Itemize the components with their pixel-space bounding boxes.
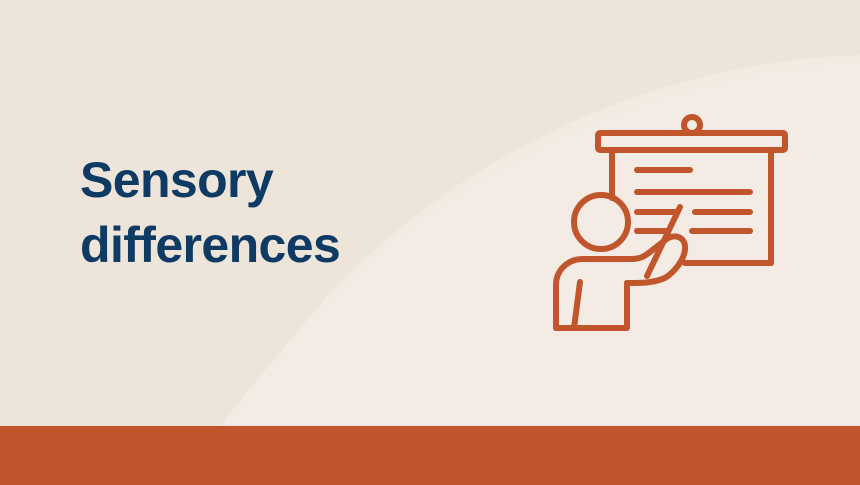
presenter-head <box>574 195 628 249</box>
page-title: Sensory differences <box>80 148 510 278</box>
title-slide: Sensory differences <box>0 0 860 485</box>
title-line-2: differences <box>80 213 510 278</box>
presenter-lower-body <box>556 283 627 328</box>
board-top-rail <box>598 133 785 150</box>
presenter-at-whiteboard-illustration <box>540 100 820 350</box>
title-line-1: Sensory <box>80 148 510 213</box>
accent-band <box>0 426 860 485</box>
presenter-arm-crease <box>574 282 580 328</box>
